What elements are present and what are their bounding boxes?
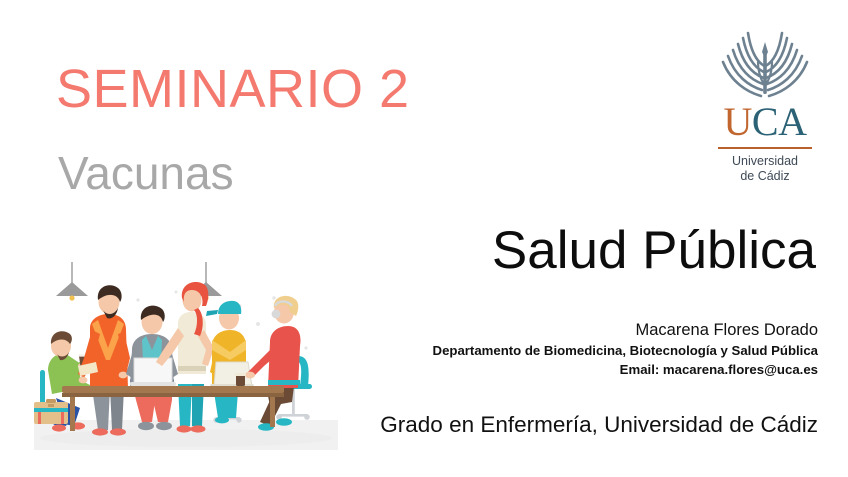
shoe [92, 428, 108, 435]
page-title: Salud Pública [492, 222, 816, 280]
cup-on-table [235, 373, 246, 386]
belt [268, 380, 300, 385]
uca-name-line-2: de Cádiz [703, 169, 827, 184]
uca-divider-rule [718, 147, 812, 149]
shoe [215, 417, 229, 424]
hand [245, 372, 255, 379]
shoe [156, 422, 172, 430]
author-name: Macarena Flores Dorado [433, 320, 818, 341]
author-email: Email: macarena.flores@uca.es [433, 362, 818, 379]
person-standing-orange [78, 285, 130, 435]
shoe [138, 422, 154, 430]
seminar-title: SEMINARIO 2 [56, 62, 410, 116]
laptop [130, 358, 176, 386]
person-yellow-hoodie [206, 301, 254, 424]
shoe [276, 418, 292, 426]
person-center-grey [126, 306, 178, 431]
presentation-slide: SEMINARIO 2 Vacunas [0, 0, 848, 477]
uca-acronym: UCA [703, 102, 827, 142]
shoe [191, 425, 206, 432]
author-block: Macarena Flores Dorado Departamento de B… [433, 320, 818, 379]
belt [178, 366, 206, 371]
uca-letter-u: U [724, 99, 752, 144]
shoe [52, 424, 66, 431]
shoe [177, 425, 192, 432]
table-leg [70, 397, 75, 431]
briefcase [34, 399, 68, 424]
hand [119, 372, 128, 379]
author-department: Departamento de Biomedicina, Biotecnolog… [433, 343, 818, 360]
uca-letters-ca: CA [752, 99, 807, 144]
cap [218, 301, 241, 314]
hand [79, 377, 88, 384]
uca-name-line-1: Universidad [703, 154, 827, 169]
cap-brim [206, 310, 218, 316]
shoe [110, 428, 126, 435]
uca-emblem-icon [717, 28, 813, 102]
person-right-coral [245, 296, 312, 431]
degree-line: Grado en Enfermería, Universidad de Cádi… [380, 412, 818, 438]
table-leg [270, 397, 275, 427]
pendant-lamp-left [56, 262, 88, 301]
seminar-subtitle: Vacunas [58, 150, 234, 196]
headphone [272, 310, 281, 319]
uca-university-name: Universidad de Cádiz [703, 154, 827, 185]
uca-logo: UCA Universidad de Cádiz [703, 28, 827, 186]
teamwork-illustration [26, 262, 346, 462]
